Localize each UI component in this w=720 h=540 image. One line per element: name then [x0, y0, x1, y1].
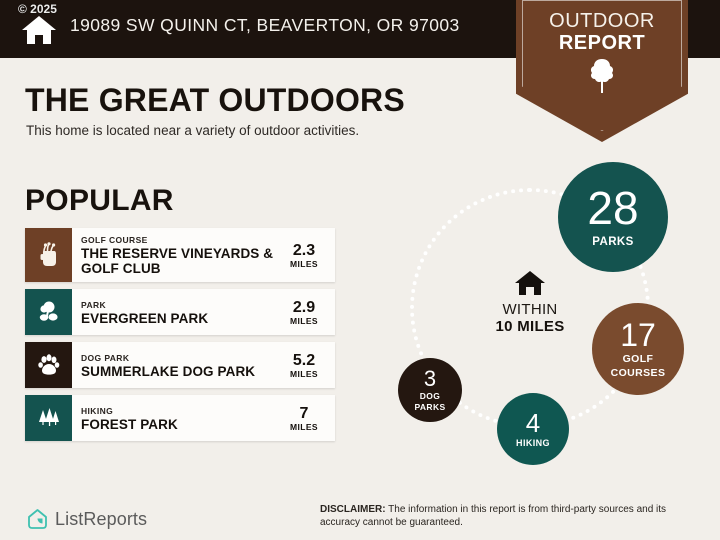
bubble-golf-courses[interactable]: 17 GOLF COURSES — [592, 303, 684, 395]
badge-line-1: OUTDOOR — [516, 10, 688, 33]
bubble-label-line1: GOLF — [623, 354, 654, 365]
home-icon — [514, 270, 546, 297]
tree-icon — [588, 58, 616, 94]
list-item[interactable]: DOG PARK SUMMERLAKE DOG PARK 5.2 MILES — [25, 342, 335, 388]
bubble-value: 28 — [587, 185, 638, 231]
bubble-label-line2: COURSES — [611, 368, 666, 379]
list-item-name: FOREST PARK — [81, 417, 279, 432]
golf-bag-icon — [25, 228, 72, 282]
page-title: THE GREAT OUTDOORS — [25, 82, 405, 119]
badge-line-2: REPORT — [516, 32, 688, 55]
bubble-value: 4 — [526, 410, 540, 436]
list-item-distance: 2.3 MILES — [279, 242, 331, 269]
bubble-dog-parks[interactable]: 3 DOG PARKS — [398, 358, 462, 422]
chart-center-label: WITHIN 10 MILES — [468, 270, 592, 335]
list-item-distance: 2.9 MILES — [279, 299, 331, 326]
home-icon — [20, 13, 58, 47]
disclaimer: DISCLAIMER: The information in this repo… — [320, 503, 705, 529]
copyright-watermark: © 2025 — [18, 2, 57, 16]
disclaimer-label: DISCLAIMER: — [320, 504, 386, 515]
list-item-category: PARK — [81, 299, 279, 311]
distance-value: 5.2 — [279, 352, 329, 369]
bubble-label: PARKS — [592, 236, 633, 248]
list-item-name: EVERGREEN PARK — [81, 311, 279, 326]
outdoor-report-page: © 2025 19089 SW QUINN CT, BEAVERTON, OR … — [0, 0, 720, 540]
bubble-parks[interactable]: 28 PARKS — [558, 162, 668, 272]
bubble-value: 17 — [620, 319, 656, 351]
distance-unit: MILES — [279, 259, 329, 269]
distance-value: 2.9 — [279, 299, 329, 316]
list-item-category: GOLF COURSE — [81, 234, 279, 246]
list-item-distance: 5.2 MILES — [279, 352, 331, 379]
distance-value: 7 — [279, 405, 329, 422]
list-item-category: DOG PARK — [81, 352, 279, 364]
distance-unit: MILES — [279, 316, 329, 326]
list-item-name: THE RESERVE VINEYARDS & GOLF CLUB — [81, 246, 279, 276]
bubble-chart: 28 PARKS 17 GOLF COURSES 4 HIKING 3 DOG … — [380, 150, 700, 480]
bubble-label: HIKING — [516, 439, 550, 448]
list-item-category: HIKING — [81, 405, 279, 417]
list-item[interactable]: PARK EVERGREEN PARK 2.9 MILES — [25, 289, 335, 335]
distance-unit: MILES — [279, 422, 329, 432]
bubble-label-line1: DOG — [420, 392, 441, 401]
list-item-distance: 7 MILES — [279, 405, 331, 432]
center-label-line1: WITHIN — [468, 301, 592, 318]
list-item[interactable]: HIKING FOREST PARK 7 MILES — [25, 395, 335, 441]
listreports-logo-text: ListReports — [55, 509, 147, 530]
distance-unit: MILES — [279, 369, 329, 379]
list-item[interactable]: GOLF COURSE THE RESERVE VINEYARDS & GOLF… — [25, 228, 335, 282]
listreports-logo[interactable]: ListReports — [27, 508, 147, 530]
bubble-value: 3 — [424, 368, 436, 390]
popular-list: GOLF COURSE THE RESERVE VINEYARDS & GOLF… — [25, 228, 335, 448]
list-item-name: SUMMERLAKE DOG PARK — [81, 364, 279, 379]
bubble-label-line2: PARKS — [414, 403, 445, 412]
distance-value: 2.3 — [279, 242, 329, 259]
section-title-popular: POPULAR — [25, 184, 174, 218]
page-subtitle: This home is located near a variety of o… — [26, 123, 359, 138]
listreports-house-icon — [27, 508, 48, 530]
outdoor-report-badge: OUTDOOR REPORT — [516, 0, 688, 142]
property-address: 19089 SW QUINN CT, BEAVERTON, OR 97003 — [70, 15, 460, 36]
center-label-line2: 10 MILES — [468, 318, 592, 335]
pine-trees-icon — [25, 395, 72, 441]
park-tree-icon — [25, 289, 72, 335]
paw-print-icon — [25, 342, 72, 388]
bubble-hiking[interactable]: 4 HIKING — [497, 393, 569, 465]
